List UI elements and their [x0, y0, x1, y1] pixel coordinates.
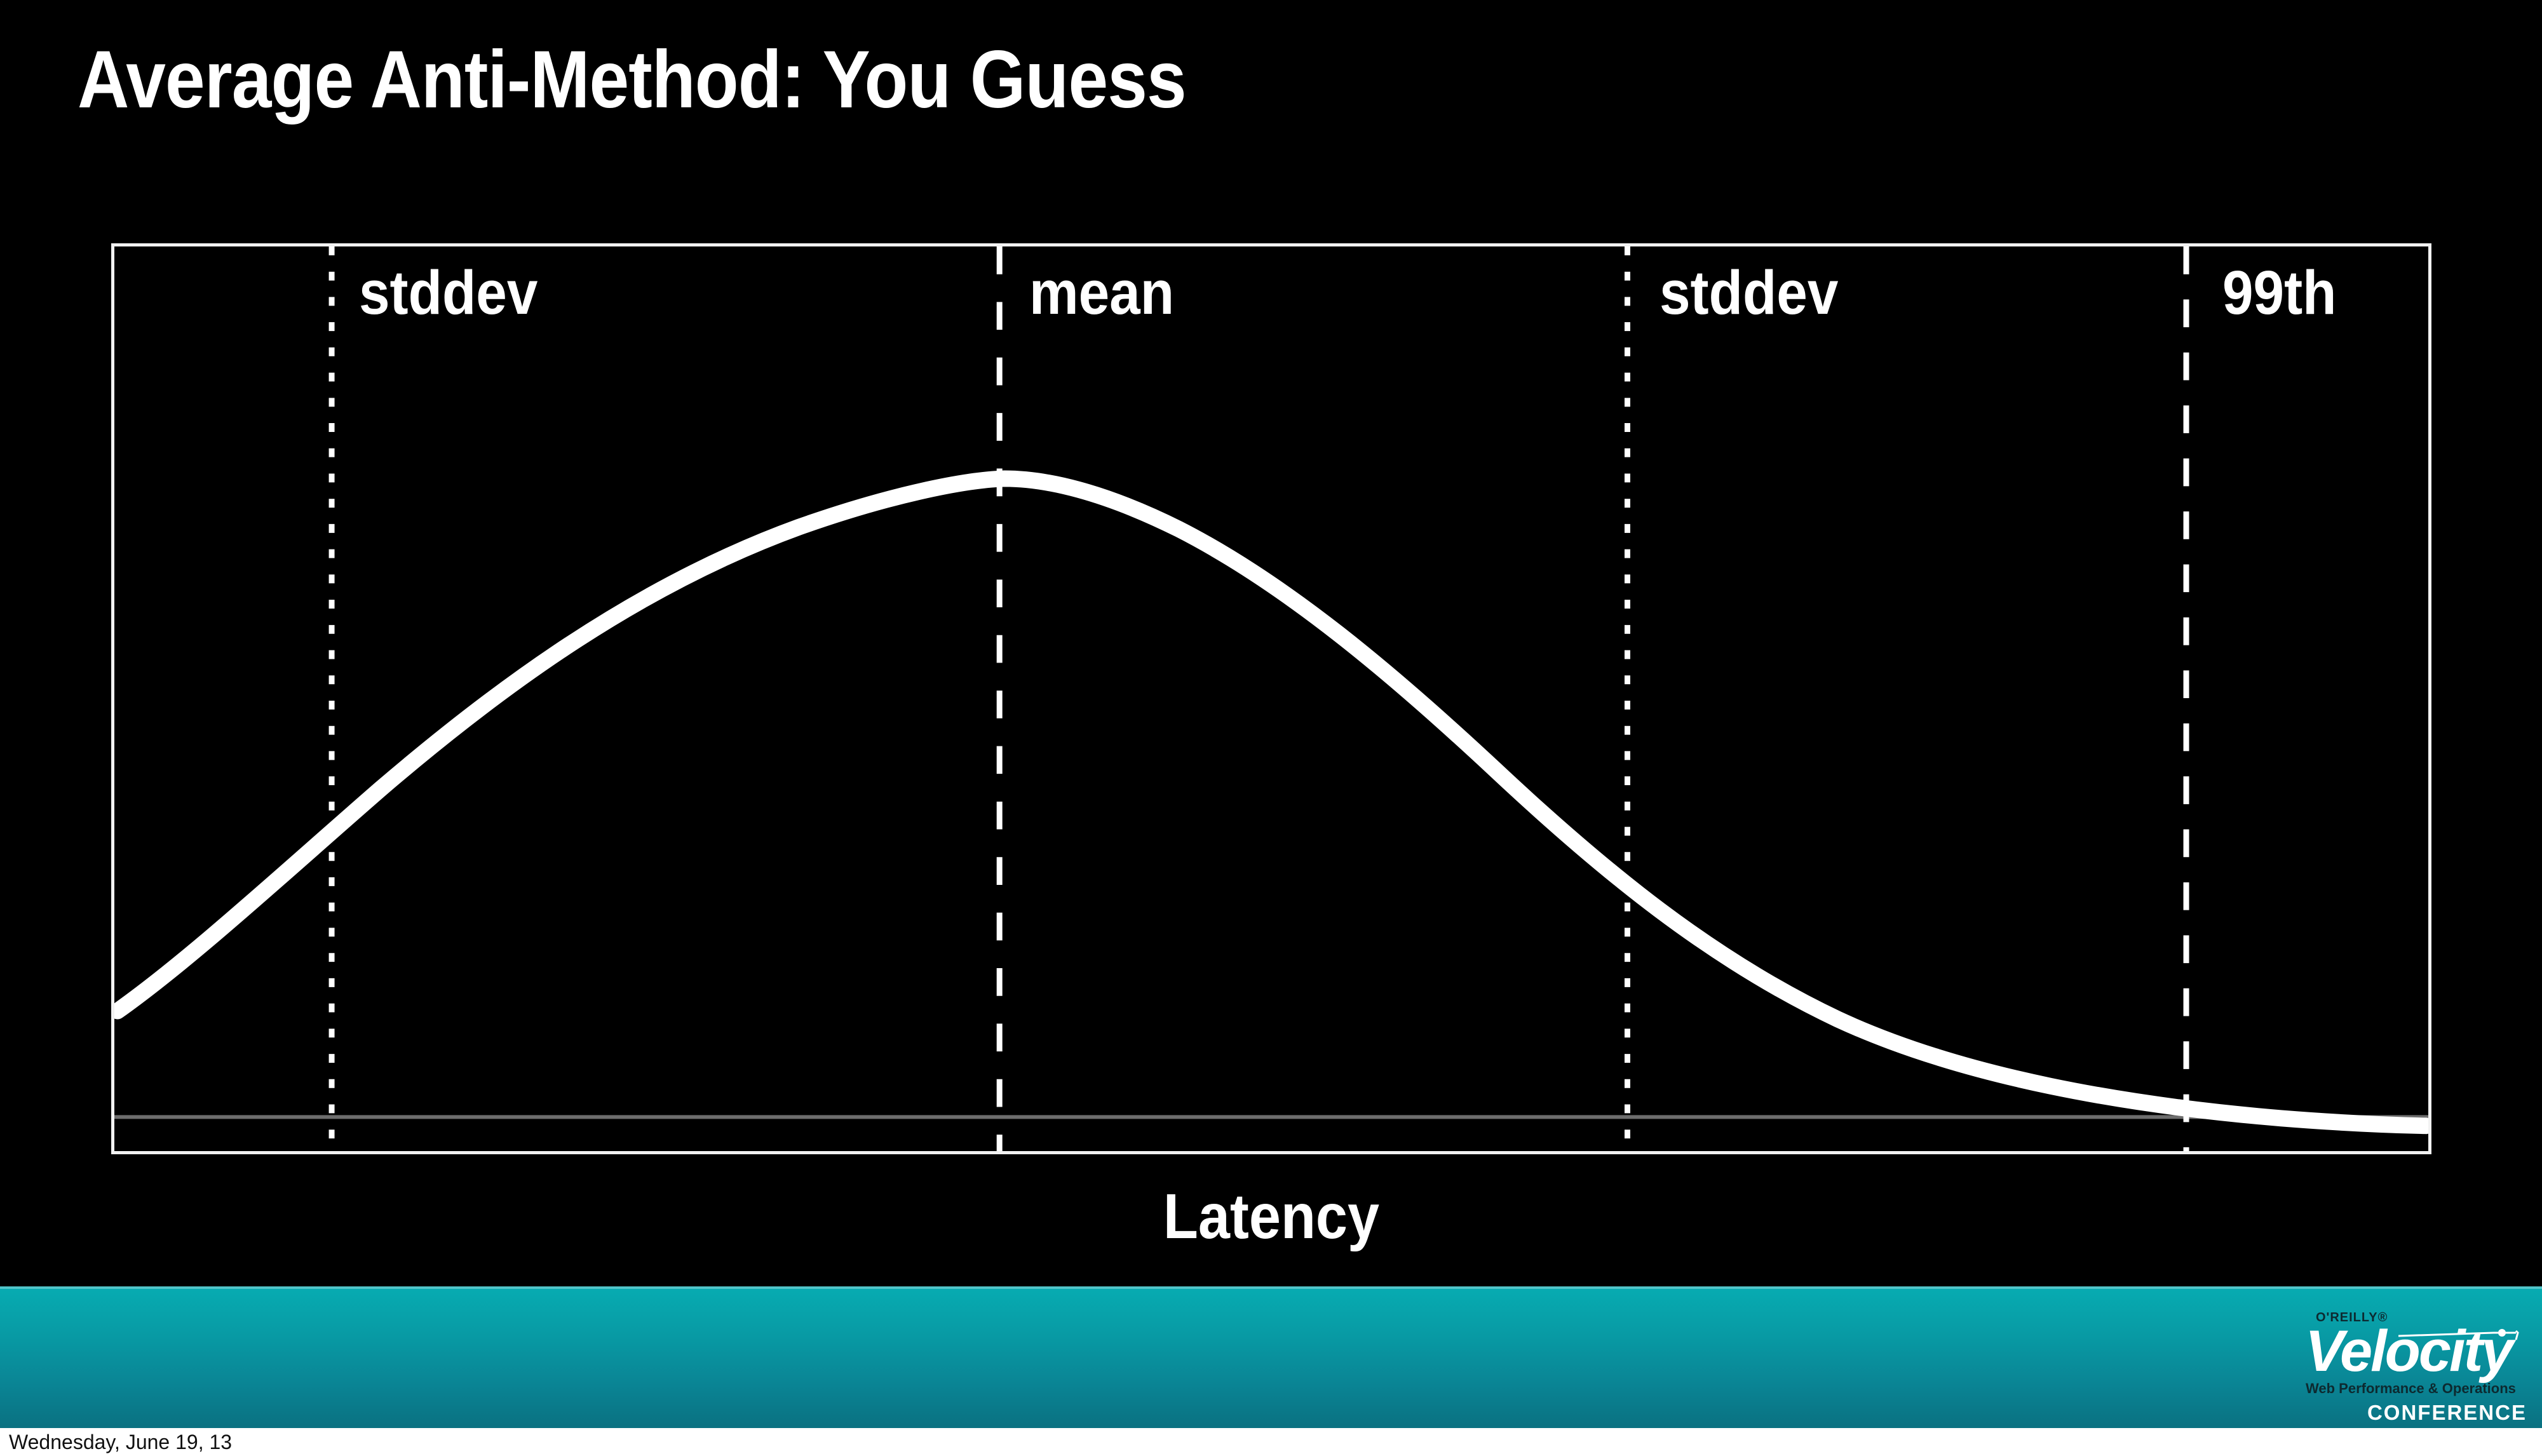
distribution-curve	[118, 478, 2426, 1126]
marker-label-stddev-left: stddev	[359, 262, 537, 323]
page-title: Average Anti-Method: You Guess	[78, 39, 1186, 121]
x-axis-title: Latency	[0, 1185, 2542, 1248]
chart-plot-area	[111, 243, 2431, 1154]
bottom-strip	[0, 1428, 2542, 1456]
marker-label-99th: 99th	[2222, 262, 2337, 323]
latency-distribution-chart	[114, 246, 2428, 1151]
slide-canvas: Average Anti-Method: You Guess stddev me…	[0, 0, 2542, 1456]
x-axis-title-text: Latency	[1163, 1185, 1379, 1248]
velocity-conference-logo: O'REILLY® Velocity Web Performance & Ope…	[2302, 1311, 2531, 1422]
footer-band	[0, 1286, 2542, 1428]
velocity-tagline: Web Performance & Operations	[2306, 1380, 2516, 1397]
marker-label-stddev-right: stddev	[1660, 262, 1838, 323]
date-stamp: Wednesday, June 19, 13	[9, 1431, 232, 1454]
footer-band-divider	[0, 1286, 2542, 1289]
marker-label-mean: mean	[1029, 262, 1174, 323]
speed-line-icon	[2398, 1328, 2519, 1341]
conference-wordmark: CONFERENCE	[2367, 1401, 2527, 1425]
